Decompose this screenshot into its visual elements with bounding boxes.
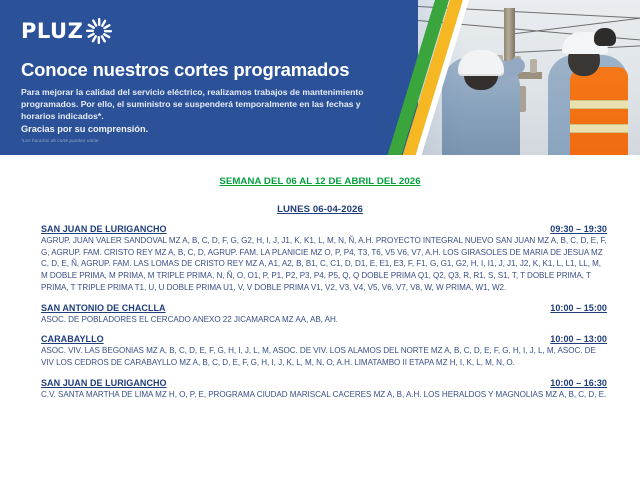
outage-entry: SAN ANTONIO DE CHACLLA 10:00 – 15:00 ASO…: [0, 303, 640, 326]
district-name[interactable]: SAN JUAN DE LURIGANCHO: [41, 224, 167, 234]
outage-entry-header: SAN ANTONIO DE CHACLLA 10:00 – 15:00: [41, 303, 607, 313]
outage-entry: SAN JUAN DE LURIGANCHO 09:30 – 19:30 AGR…: [0, 224, 640, 294]
outage-hours: 10:00 – 16:30: [550, 378, 607, 388]
outage-hours: 09:30 – 19:30: [550, 224, 607, 234]
pluz-logo: PLUZ: [21, 18, 112, 44]
outage-entry-header: SAN JUAN DE LURIGANCHO 10:00 – 16:30: [41, 378, 607, 388]
district-name[interactable]: SAN ANTONIO DE CHACLLA: [41, 303, 166, 313]
outage-hours: 10:00 – 15:00: [550, 303, 607, 313]
logo-wordmark: PLUZ: [21, 19, 83, 43]
district-name[interactable]: CARABAYLLO: [41, 334, 104, 344]
banner-title: Conoce nuestros cortes programados: [21, 59, 349, 81]
affected-zones: AGRUP. JUAN VALER SANDOVAL MZ A, B, C, D…: [41, 235, 607, 294]
outage-entry: SAN JUAN DE LURIGANCHO 10:00 – 16:30 C.V…: [0, 378, 640, 401]
header-banner: PLUZ Conoce nuestros: [0, 0, 640, 155]
outage-entry-header: CARABAYLLO 10:00 – 13:00: [41, 334, 607, 344]
week-title: SEMANA DEL 06 AL 12 DE ABRIL DEL 2026: [0, 176, 640, 187]
schedule-content: SEMANA DEL 06 AL 12 DE ABRIL DEL 2026 LU…: [0, 176, 640, 502]
outage-entry-header: SAN JUAN DE LURIGANCHO 09:30 – 19:30: [41, 224, 607, 234]
affected-zones: ASOC. VIV. LAS BEGONIAS MZ A, B, C, D, E…: [41, 345, 607, 368]
day-title: LUNES 06-04-2026: [0, 204, 640, 215]
outage-hours: 10:00 – 13:00: [550, 334, 607, 344]
district-name[interactable]: SAN JUAN DE LURIGANCHO: [41, 378, 167, 388]
banner-fineprint: *Los horarios de corte pueden variar.: [21, 138, 100, 143]
affected-zones: ASOC. DE POBLADORES EL CERCADO ANEXO 22 …: [41, 314, 607, 326]
affected-zones: C.V. SANTA MARTHA DE LIMA MZ H, O, P, E,…: [41, 389, 607, 401]
radial-burst-icon: [86, 18, 112, 44]
banner-description: Para mejorar la calidad del servicio elé…: [21, 86, 391, 123]
banner-thanks-text: Gracias por su comprensión.: [21, 124, 148, 134]
outage-entry: CARABAYLLO 10:00 – 13:00 ASOC. VIV. LAS …: [0, 334, 640, 368]
